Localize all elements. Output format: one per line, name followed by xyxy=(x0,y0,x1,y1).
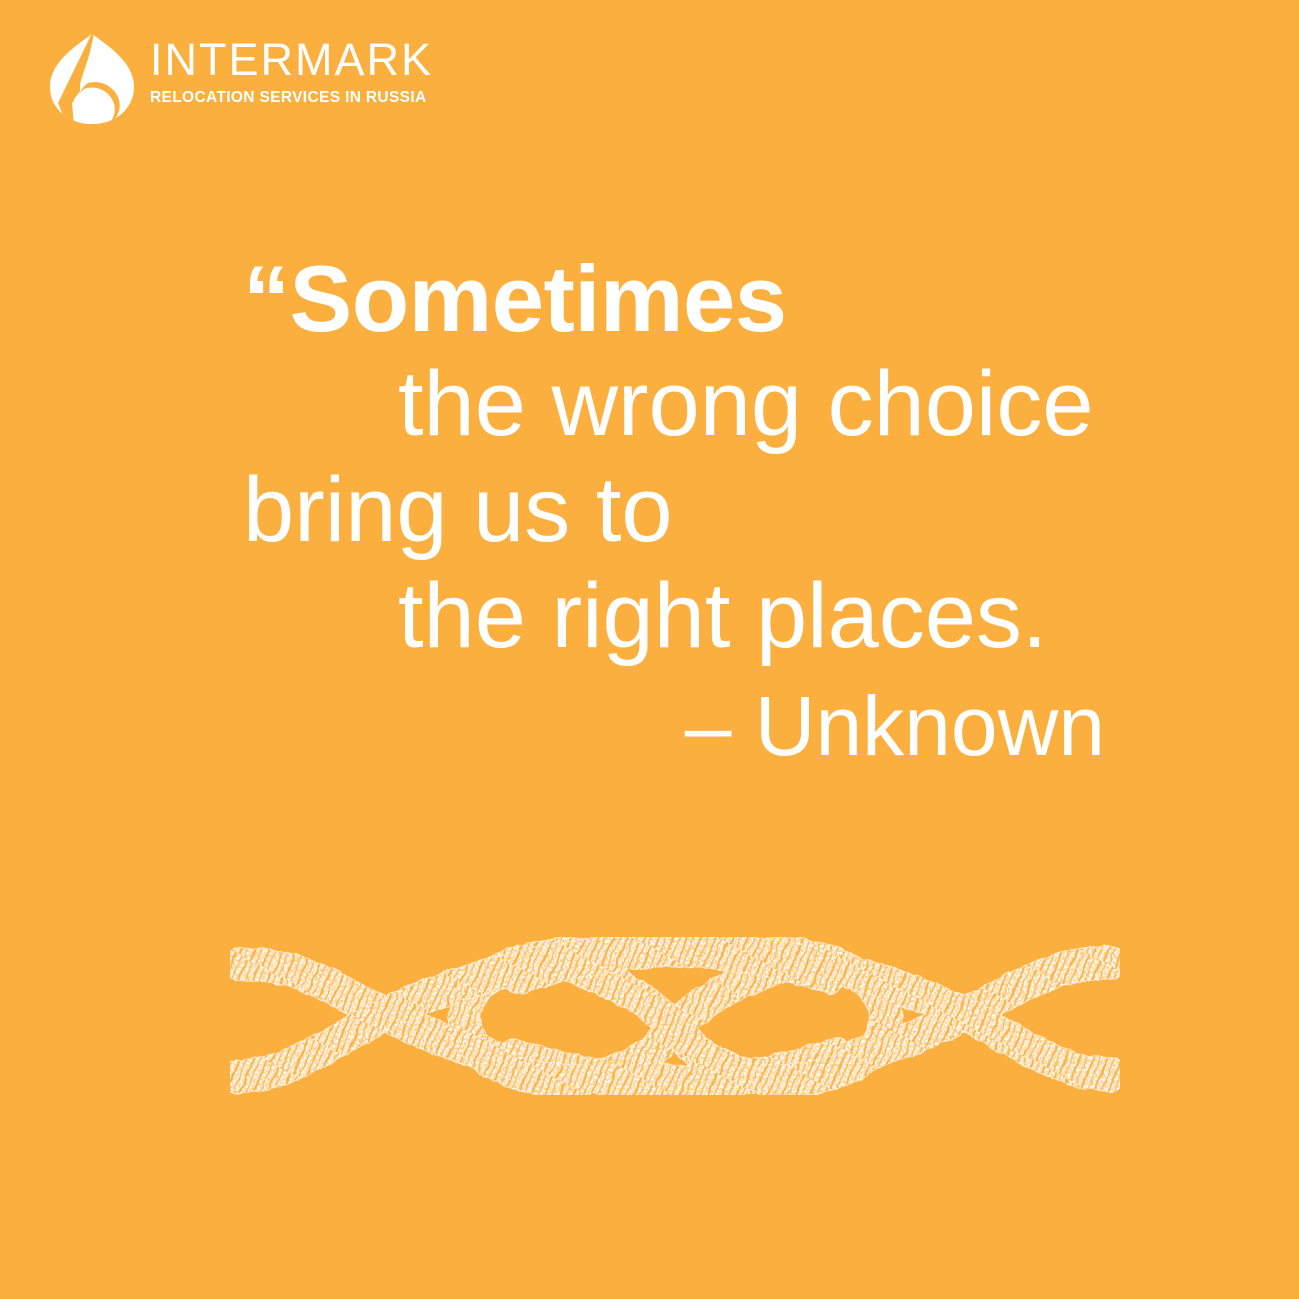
brand-tagline: RELOCATION SERVICES IN RUSSIA xyxy=(150,89,433,107)
quote-line-2: the wrong choice xyxy=(398,358,1299,464)
quote-attribution: – Unknown xyxy=(0,684,1299,768)
brand-name: INTERMARK xyxy=(150,37,433,83)
brand-wordmark-block: INTERMARK RELOCATION SERVICES IN RUSSIA xyxy=(150,33,433,107)
rope-knot-illustration xyxy=(230,905,1120,1125)
brand-logo[interactable]: INTERMARK RELOCATION SERVICES IN RUSSIA xyxy=(48,33,433,125)
quote-line-1: “Sometimes xyxy=(243,252,1299,358)
quote-line-3: bring us to xyxy=(243,464,1299,570)
poster-canvas: INTERMARK RELOCATION SERVICES IN RUSSIA … xyxy=(0,0,1299,1299)
quote-line-4: the right places. xyxy=(398,570,1299,676)
intermark-flame-droplet-icon xyxy=(48,33,136,125)
quote-block: “Sometimes the wrong choice bring us to … xyxy=(0,252,1299,768)
